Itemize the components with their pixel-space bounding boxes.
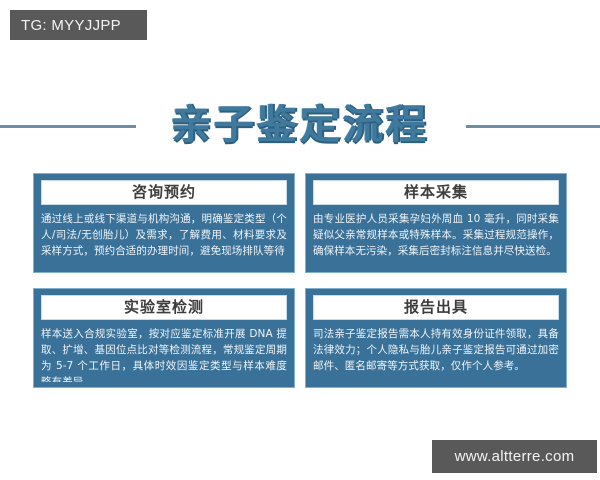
process-card-1-body: 通过线上或线下渠道与机构沟通，明确鉴定类型（个人/司法/无创胎儿）及需求，了解费… [41,211,287,267]
process-card-2-title: 样本采集 [404,185,468,200]
process-card-2-body: 由专业医护人员采集孕妇外周血 10 毫升，同时采集疑似父亲常规样本或特殊样本。采… [313,211,559,267]
process-card-4-header: 报告出具 [313,295,559,320]
process-card-4-title: 报告出具 [404,300,468,315]
process-card-3: 实验室检测 样本送入合规实验室，按对应鉴定标准开展 DNA 提取、扩增、基因位点… [33,288,295,388]
watermark-bottom-right: www.altterre.com [432,440,597,473]
process-card-3-header: 实验室检测 [41,295,287,320]
watermark-top-left: TG: MYYJJPP [10,10,147,40]
process-card-4-body: 司法亲子鉴定报告需本人持有效身份证件领取，具备法律效力；个人隐私与胎儿亲子鉴定报… [313,326,559,382]
process-card-4: 报告出具 司法亲子鉴定报告需本人持有效身份证件领取，具备法律效力；个人隐私与胎儿… [305,288,567,388]
process-card-2: 样本采集 由专业医护人员采集孕妇外周血 10 毫升，同时采集疑似父亲常规样本或特… [305,173,567,273]
process-card-grid: 咨询预约 通过线上或线下渠道与机构沟通，明确鉴定类型（个人/司法/无创胎儿）及需… [33,173,567,388]
page-title-band: 亲子鉴定流程 [0,95,600,157]
process-card-1-title: 咨询预约 [132,185,196,200]
process-card-3-title: 实验室检测 [124,300,204,315]
process-card-1: 咨询预约 通过线上或线下渠道与机构沟通，明确鉴定类型（个人/司法/无创胎儿）及需… [33,173,295,273]
process-card-3-body: 样本送入合规实验室，按对应鉴定标准开展 DNA 提取、扩增、基因位点比对等检测流… [41,326,287,382]
process-card-1-header: 咨询预约 [41,180,287,205]
process-card-2-header: 样本采集 [313,180,559,205]
page-title: 亲子鉴定流程 [0,95,600,155]
